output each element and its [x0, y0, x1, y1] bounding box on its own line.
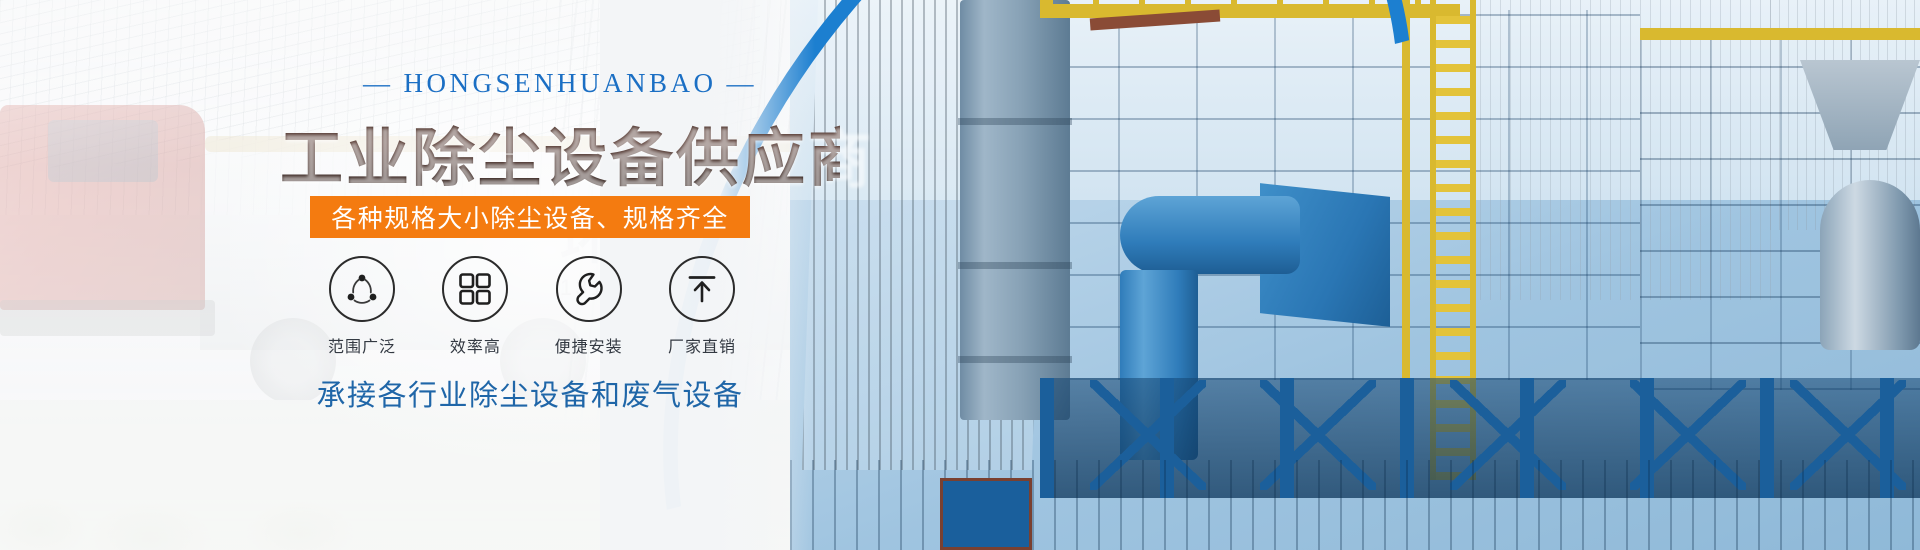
feature-item-direct-sales[interactable]: 厂家直销: [652, 256, 752, 357]
feature-label: 厂家直销: [668, 333, 736, 357]
banner-title: 工业除尘设备供应商: [280, 108, 840, 199]
orange-subtitle-bar: 各种规格大小除尘设备、规格齐全: [310, 196, 750, 238]
feature-item-coverage[interactable]: 范围广泛: [312, 256, 412, 357]
grid-squares-icon: [442, 256, 508, 322]
network-nodes-icon: [329, 256, 395, 322]
eyebrow-dash-right: —: [727, 68, 758, 99]
banner-content: —HONGSENHUANBAO— 工业除尘设备供应商 各种规格大小除尘设备、规格…: [0, 0, 1100, 550]
feature-list: 范围广泛 效率高: [312, 256, 752, 357]
feature-label: 范围广泛: [328, 333, 396, 357]
feature-item-efficiency[interactable]: 效率高: [425, 256, 525, 357]
cylindrical-tank: [1820, 180, 1920, 350]
feature-label: 便捷安装: [555, 333, 623, 357]
up-arrow-icon: [669, 256, 735, 322]
eyebrow-dash-left: —: [363, 68, 394, 99]
wrench-icon: [556, 256, 622, 322]
eyebrow-text: HONGSENHUANBAO: [403, 68, 716, 98]
orange-subtitle-text: 各种规格大小除尘设备、规格齐全: [331, 199, 729, 235]
feature-label: 效率高: [450, 333, 501, 357]
brand-eyebrow: —HONGSENHUANBAO—: [330, 68, 790, 99]
catwalk-platform-secondary: [1640, 28, 1920, 40]
hero-banner: 环保 13132760: [0, 0, 1920, 550]
banner-tagline: 承接各行业除尘设备和废气设备: [300, 372, 760, 414]
feature-item-installation[interactable]: 便捷安装: [539, 256, 639, 357]
